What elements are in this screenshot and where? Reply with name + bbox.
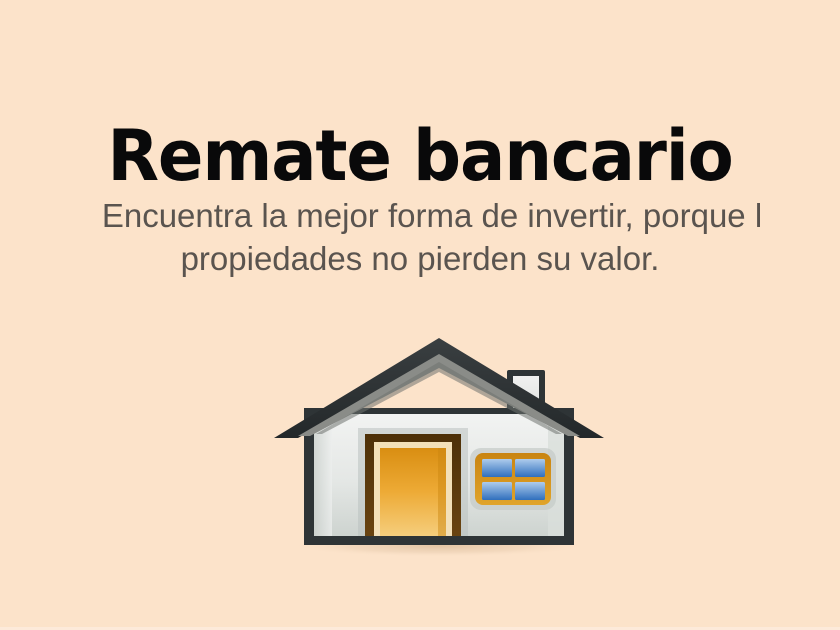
subtitle-line-2: propiedades no pierden su valor. bbox=[0, 237, 840, 280]
subtitle: Encuentra la mejor forma de invertir, po… bbox=[0, 194, 840, 280]
house-base bbox=[304, 536, 574, 545]
house-illustration bbox=[262, 330, 612, 565]
window bbox=[470, 448, 556, 510]
house-icon bbox=[262, 330, 612, 565]
subtitle-line-1: Encuentra la mejor forma de invertir, po… bbox=[12, 194, 840, 237]
door bbox=[358, 428, 468, 544]
page-title: Remate bancario bbox=[17, 119, 823, 193]
slide-canvas: Remate bancario Encuentra la mejor forma… bbox=[0, 0, 840, 630]
